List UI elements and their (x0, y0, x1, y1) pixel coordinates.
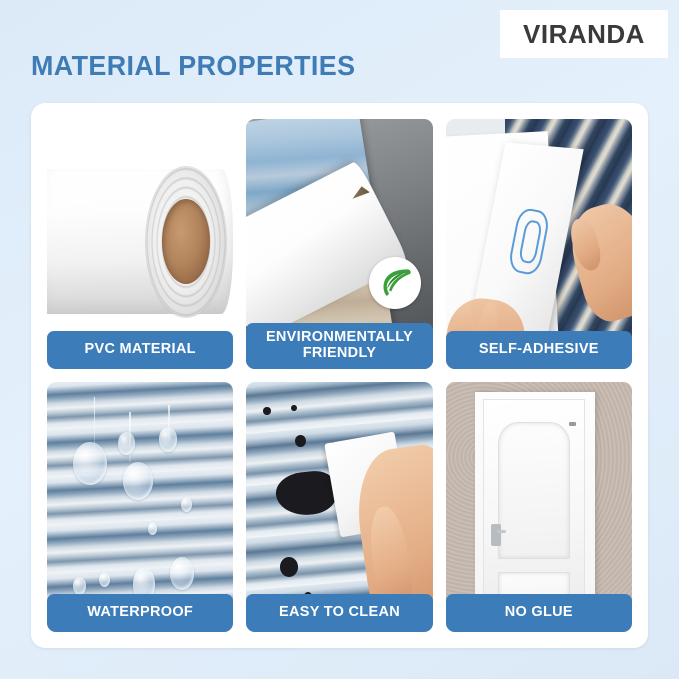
water-droplet (170, 557, 194, 590)
feature-label-line: FRIENDLY (266, 345, 413, 361)
feature-tile-easy-to-clean[interactable]: EASY TO CLEAN (246, 382, 432, 632)
water-droplet (118, 432, 135, 455)
stain-smear (274, 469, 338, 517)
door-panel-top (498, 422, 570, 559)
feature-label-pvc-material: PVC MATERIAL (47, 331, 233, 369)
feature-label-line: NO GLUE (505, 604, 573, 620)
feature-label-line: SELF-ADHESIVE (479, 341, 599, 357)
brand-logo-box: VIRANDA (500, 10, 668, 58)
brand-name: VIRANDA (523, 19, 645, 50)
feature-tile-pvc-material[interactable]: PVC MATERIAL (47, 119, 233, 369)
stain-mark (291, 405, 297, 411)
feature-label-easy-to-clean: EASY TO CLEAN (246, 594, 432, 632)
feature-label-line: WATERPROOF (87, 604, 193, 620)
door-hinge (569, 422, 576, 426)
stain-mark (295, 435, 306, 448)
feature-tile-waterproof[interactable]: WATERPROOF (47, 382, 233, 632)
leaf-icon-glyph (378, 265, 413, 300)
water-droplet (73, 577, 86, 595)
door-frame (475, 392, 594, 622)
water-droplet (148, 522, 157, 535)
water-droplet (123, 462, 153, 500)
water-droplet (73, 442, 107, 485)
feature-tile-no-glue[interactable]: NO GLUE (446, 382, 632, 632)
water-droplet (99, 572, 110, 587)
feature-label-self-adhesive: SELF-ADHESIVE (446, 331, 632, 369)
water-droplet (159, 427, 178, 452)
feature-label-no-glue: NO GLUE (446, 594, 632, 632)
features-card: PVC MATERIAL (31, 103, 648, 648)
stain-mark (263, 407, 270, 415)
feature-label-line: EASY TO CLEAN (279, 604, 400, 620)
feature-tile-environmentally-friendly[interactable]: ENVIRONMENTALLY FRIENDLY (246, 119, 432, 369)
door-handle (491, 524, 501, 546)
water-droplet (181, 497, 192, 512)
feature-label-line: ENVIRONMENTALLY (266, 329, 413, 345)
stain-mark (280, 557, 299, 577)
feature-label-environmentally-friendly: ENVIRONMENTALLY FRIENDLY (246, 323, 432, 369)
feature-label-line: PVC MATERIAL (85, 341, 196, 357)
door-leaf (483, 399, 586, 622)
eco-peel-corner (352, 185, 370, 204)
feature-label-waterproof: WATERPROOF (47, 594, 233, 632)
features-grid: PVC MATERIAL (47, 119, 632, 632)
feature-tile-self-adhesive[interactable]: SELF-ADHESIVE (446, 119, 632, 369)
pvc-roll-core (162, 199, 210, 284)
page-title: MATERIAL PROPERTIES (31, 50, 355, 82)
